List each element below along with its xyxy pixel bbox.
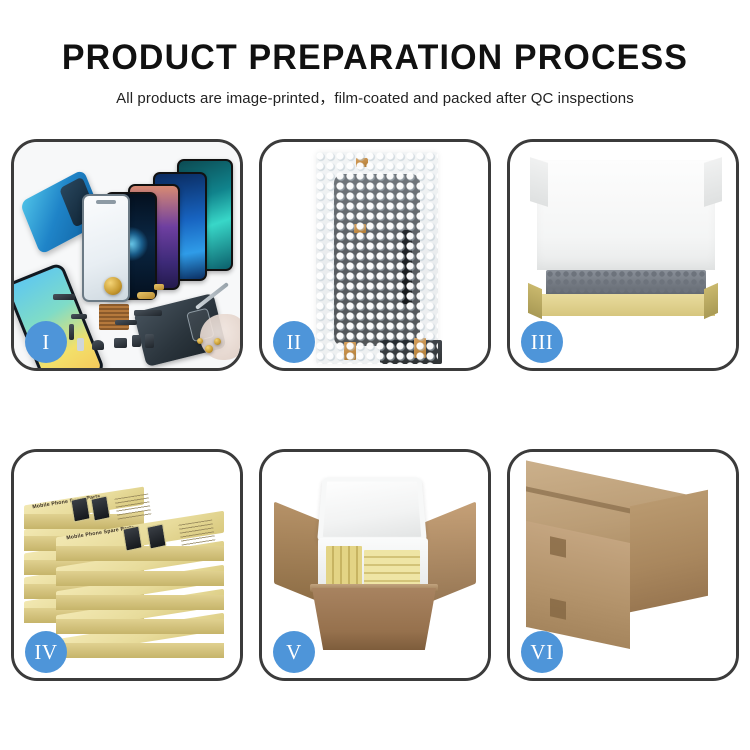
carton-tape-upper <box>550 536 566 557</box>
box-label-image-b <box>146 523 166 549</box>
panel-step-6[interactable]: VI <box>507 449 739 681</box>
stack-box-printed: Mobile Phone Spare Parts <box>56 524 224 546</box>
bubble-wrap-bag <box>316 152 438 364</box>
part-antenna <box>115 320 137 325</box>
process-step-grid: I II III <box>11 139 739 681</box>
screw-1 <box>205 345 213 353</box>
carton-flap-left <box>528 283 542 319</box>
carton-side-face <box>630 490 708 613</box>
panel-step-1[interactable]: I <box>11 139 243 371</box>
part-cable <box>71 314 87 319</box>
step-badge: IV <box>25 631 67 673</box>
carton-tape-lower <box>550 598 566 619</box>
box-label-lines <box>114 493 151 520</box>
part-clip <box>154 284 164 290</box>
page-header: PRODUCT PREPARATION PROCESS All products… <box>0 0 750 108</box>
logic-board <box>99 304 129 330</box>
panel-step-2[interactable]: II <box>259 139 491 371</box>
page-subtitle: All products are image-printed，film-coat… <box>0 87 750 108</box>
hand <box>200 314 240 360</box>
part-camera <box>114 338 127 348</box>
part-connector <box>137 292 155 299</box>
step-badge: I <box>25 321 67 363</box>
step-badge: VI <box>521 631 563 673</box>
screw-3 <box>197 338 203 344</box>
page-title: PRODUCT PREPARATION PROCESS <box>11 40 739 75</box>
box-label-image-b <box>90 495 110 521</box>
part-button <box>132 335 141 347</box>
panel-step-4[interactable]: Mobile Phone Spare Parts Mobile Phone Sp… <box>11 449 243 681</box>
step-badge: II <box>273 321 315 363</box>
box-label-image-a <box>70 496 90 522</box>
foam-sheet-lid <box>537 160 715 270</box>
carton-body <box>312 588 436 650</box>
part-strip <box>53 294 75 300</box>
part-receiver <box>92 340 104 350</box>
panel-step-3[interactable]: III <box>507 139 739 371</box>
gold-boxes-left <box>326 546 362 588</box>
step-badge: III <box>521 321 563 363</box>
speaker-part <box>104 277 122 295</box>
part-sensor <box>77 338 84 351</box>
gold-boxes-right <box>364 550 420 588</box>
carton-front-face <box>526 521 630 649</box>
box-label-lines <box>178 519 215 546</box>
panel-step-5[interactable]: V <box>259 449 491 681</box>
step-badge: V <box>273 631 315 673</box>
part-sim-tray <box>145 334 154 348</box>
foam-lid <box>317 477 427 542</box>
bubble-texture <box>316 152 438 364</box>
screw-2 <box>214 338 221 345</box>
box-label-image-a <box>122 525 142 551</box>
carton-flap-right <box>704 283 718 319</box>
stack-box-printed: Mobile Phone Spare Parts <box>24 496 144 514</box>
carton-front <box>537 294 715 316</box>
part-ribbon <box>134 310 162 316</box>
part-flex <box>69 324 74 340</box>
